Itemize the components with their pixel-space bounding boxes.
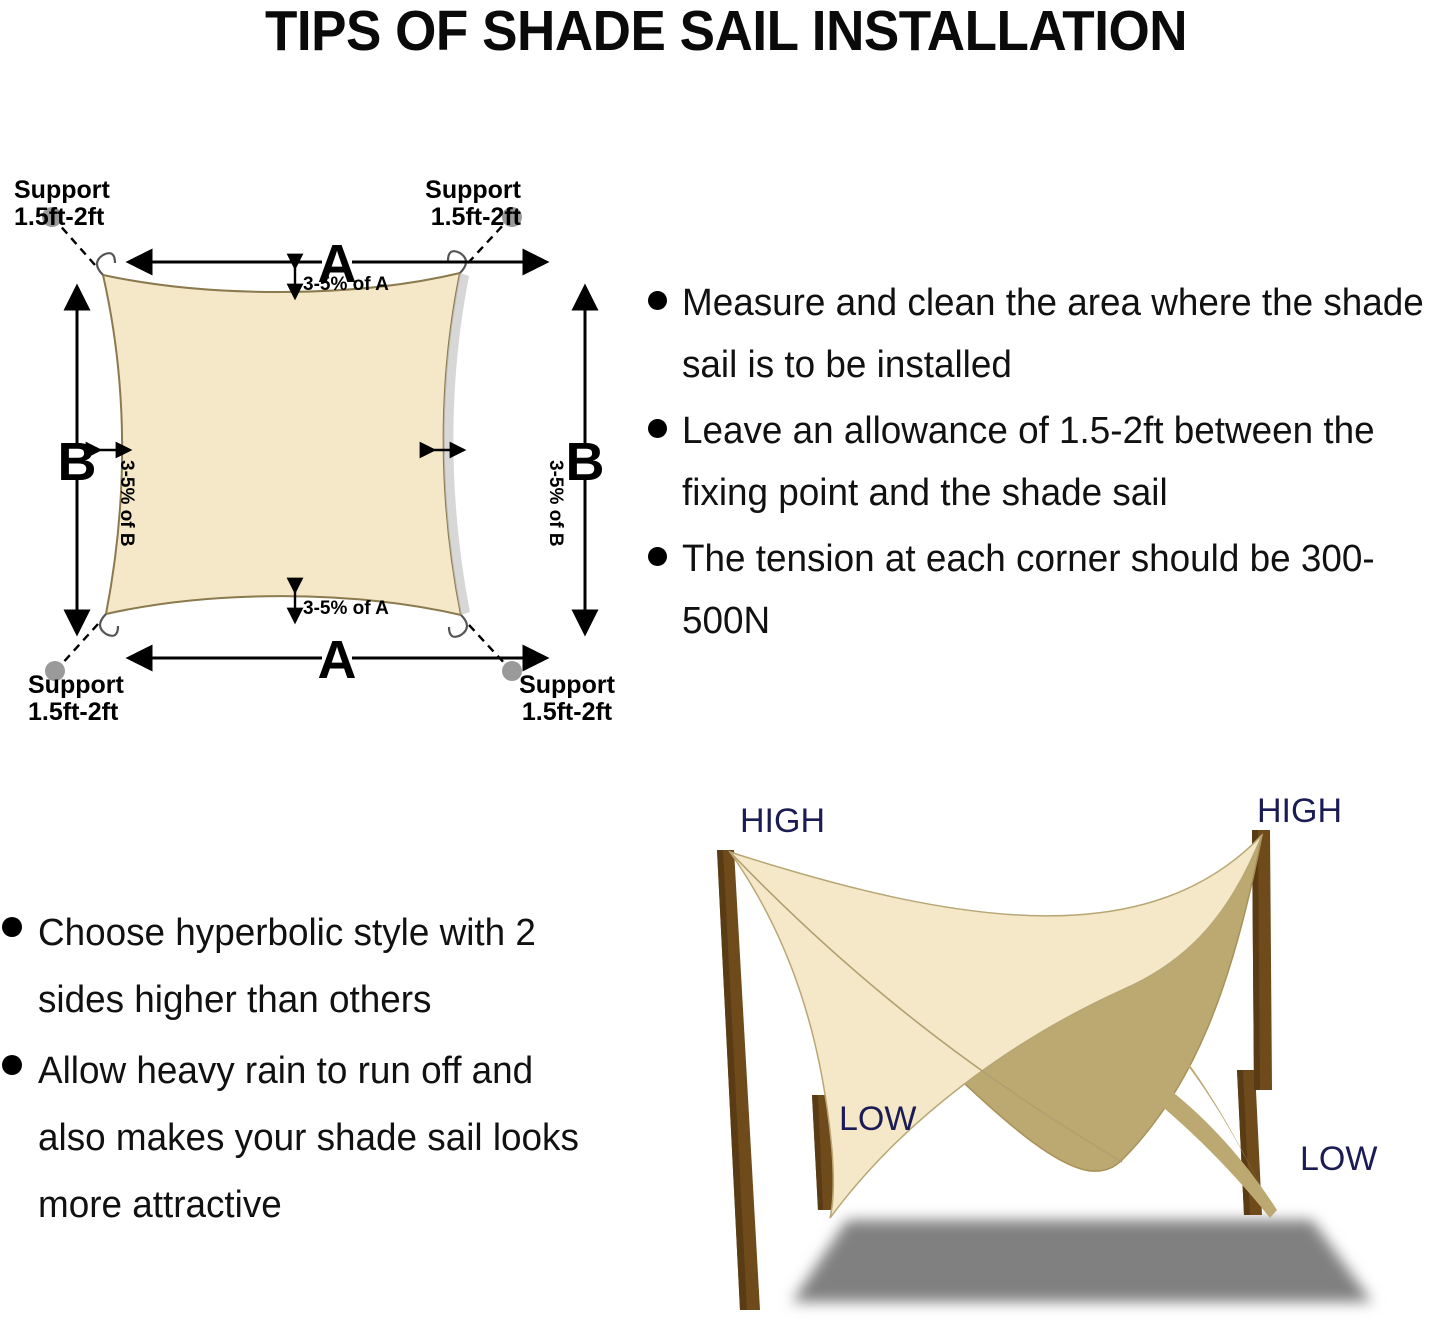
support-label-value: 1.5ft-2ft	[14, 203, 105, 231]
bullet-icon	[648, 400, 682, 438]
label-high-left: HIGH	[740, 802, 825, 840]
support-label-value: 1.5ft-2ft	[431, 203, 522, 231]
rectangular-sail-svg: Support 1.5ft-2ft Support 1.5ft-2ft Supp…	[0, 160, 640, 730]
support-label-top-left: Support 1.5ft-2ft	[14, 176, 110, 231]
post-high-left	[717, 850, 760, 1310]
label-low-right: LOW	[1300, 1140, 1377, 1178]
bullet-icon	[648, 528, 682, 566]
support-label-text: Support	[425, 176, 521, 204]
label-low-left: LOW	[839, 1100, 916, 1138]
label-high-right: HIGH	[1257, 792, 1342, 830]
list-item: Leave an allowance of 1.5-2ft between th…	[648, 400, 1452, 524]
support-label-bottom-right: Support 1.5ft-2ft	[519, 671, 615, 726]
list-item: Measure and clean the area where the sha…	[648, 272, 1452, 396]
tip-text: Leave an allowance of 1.5-2ft between th…	[682, 400, 1429, 524]
bullet-icon	[2, 900, 38, 937]
tips-list-top: Measure and clean the area where the sha…	[648, 272, 1452, 656]
hyperbolic-sail-svg: HIGH HIGH LOW LOW	[672, 790, 1452, 1325]
dimension-b-right: B	[566, 288, 605, 632]
rectangular-sail-diagram: Support 1.5ft-2ft Support 1.5ft-2ft Supp…	[0, 160, 640, 730]
list-item: Choose hyperbolic style with 2 sides hig…	[2, 900, 627, 1034]
list-item: The tension at each corner should be 300…	[648, 528, 1452, 652]
curve-callout-label: 3-5% of A	[303, 274, 389, 295]
bullet-icon	[2, 1038, 38, 1075]
page-title: TIPS OF SHADE SAIL INSTALLATION	[51, 2, 1401, 62]
support-label-value: 1.5ft-2ft	[522, 698, 613, 726]
dimension-b-left: B	[58, 288, 97, 632]
support-label-text: Support	[28, 671, 124, 699]
curve-callout-label: 3-5% of B	[545, 460, 566, 547]
support-label-top-right: Support 1.5ft-2ft	[425, 176, 521, 231]
support-label-text: Support	[519, 671, 615, 699]
hyperbolic-sail-diagram: HIGH HIGH LOW LOW	[672, 790, 1452, 1325]
tips-list-bottom: Choose hyperbolic style with 2 sides hig…	[2, 900, 627, 1243]
ground-shadow	[792, 1220, 1372, 1302]
dimension-b-label: B	[566, 432, 605, 492]
support-label-text: Support	[14, 176, 110, 204]
sail-body	[103, 273, 461, 615]
curve-callout-label: 3-5% of A	[303, 598, 389, 619]
tip-text: Measure and clean the area where the sha…	[682, 272, 1429, 396]
bullet-icon	[648, 272, 682, 310]
dimension-b-label: B	[58, 432, 97, 492]
tip-text: Choose hyperbolic style with 2 sides hig…	[38, 900, 609, 1034]
curve-callout-label: 3-5% of B	[116, 460, 137, 547]
curve-callout-left: 3-5% of B	[100, 450, 137, 547]
dimension-a-label: A	[318, 630, 357, 690]
support-label-bottom-left: Support 1.5ft-2ft	[28, 671, 124, 726]
tip-text: Allow heavy rain to run off and also mak…	[38, 1038, 609, 1239]
list-item: Allow heavy rain to run off and also mak…	[2, 1038, 627, 1239]
support-label-value: 1.5ft-2ft	[28, 698, 119, 726]
tip-text: The tension at each corner should be 300…	[682, 528, 1429, 652]
